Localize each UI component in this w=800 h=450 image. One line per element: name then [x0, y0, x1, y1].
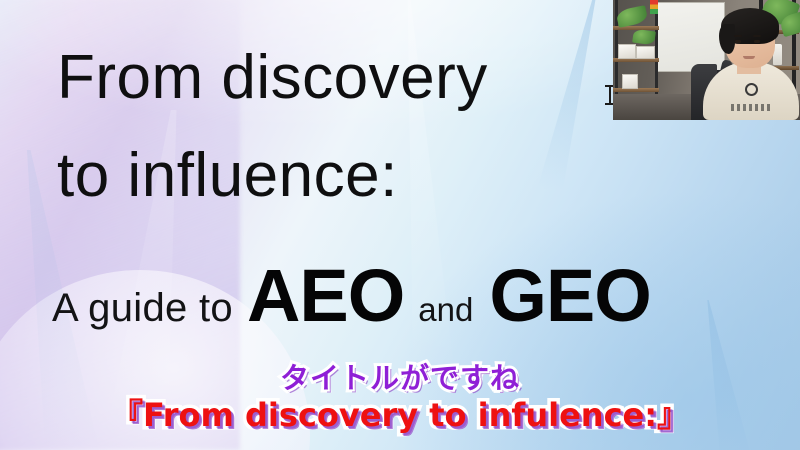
slide-subtitle: A guide to AEO and GEO	[52, 253, 651, 338]
presenter-hair-side	[719, 24, 735, 54]
slide-title-line-1: From discovery	[57, 42, 488, 114]
presenter-eyebrow	[734, 35, 742, 37]
shirt-print	[731, 104, 771, 111]
storage-box	[636, 46, 655, 59]
presenter-eyebrow	[753, 35, 761, 37]
slide-subtitle-term-geo: GEO	[489, 253, 650, 338]
slide-subtitle-term-aeo: AEO	[247, 253, 404, 338]
presenter-eye	[754, 40, 760, 43]
color-strip-decor	[650, 0, 658, 14]
whiteboard	[657, 2, 725, 72]
video-frame: From discovery to influence: A guide to …	[0, 0, 800, 450]
slide-subtitle-conjunction: and	[418, 291, 473, 329]
presenter-camera-overlay[interactable]	[613, 0, 800, 120]
slide-subtitle-prefix: A guide to	[52, 286, 233, 331]
storage-box	[618, 44, 636, 59]
slide-title-line-2: to influence:	[57, 140, 398, 212]
presenter-eye	[735, 40, 741, 43]
presenter-mouth	[743, 56, 755, 59]
storage-box	[622, 74, 638, 89]
shirt-logo	[745, 83, 758, 96]
